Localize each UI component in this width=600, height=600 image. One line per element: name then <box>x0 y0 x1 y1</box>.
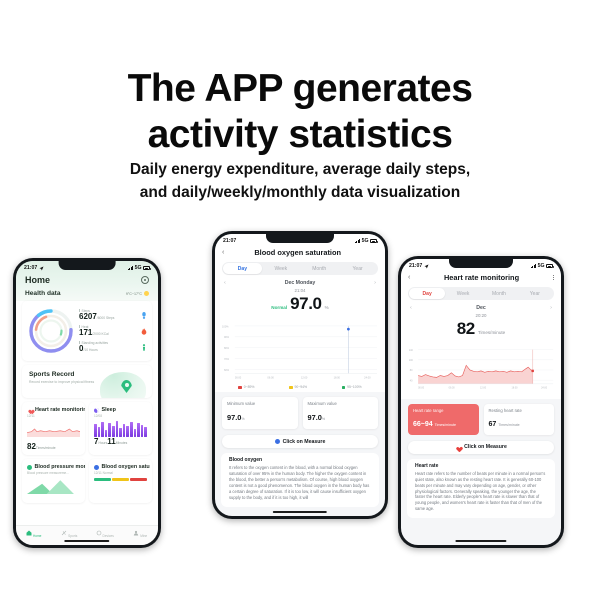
stat-heat: Heat 171/2000 KCal <box>79 325 147 337</box>
standing-value: 0/10 Hours <box>79 345 141 353</box>
reading-time: 21:04 <box>215 288 385 293</box>
tab-day[interactable]: Day <box>223 263 261 274</box>
chart-legend: 0~89% 90~94% 95~100% <box>215 381 385 392</box>
phone-notch <box>449 259 513 268</box>
date-selector[interactable]: ‹ Dec › <box>401 305 561 312</box>
reading-value: 82 <box>457 319 475 339</box>
oxygen-drop-icon <box>275 439 280 444</box>
date-selector[interactable]: ‹ Dec Monday › <box>215 280 385 287</box>
svg-text:12:00: 12:00 <box>480 387 487 390</box>
article-title: Heart rate <box>415 463 547 469</box>
bp-title: Blood pressure mor <box>35 464 86 470</box>
gear-icon[interactable] <box>141 276 149 284</box>
prev-date-icon[interactable]: ‹ <box>410 305 412 311</box>
current-reading: 21:04 Normal 97.0 % <box>215 287 385 318</box>
sleep-bar-chart <box>94 421 147 437</box>
home-icon <box>26 530 32 536</box>
subtitle-line-1: Daily energy expenditure, average daily … <box>0 158 600 181</box>
minimum-label: Minimum value <box>227 401 293 407</box>
signal-icon <box>128 266 133 270</box>
kebab-menu-icon[interactable] <box>553 275 554 281</box>
tab-year[interactable]: Year <box>517 288 553 299</box>
chevron-left-icon[interactable]: ‹ <box>408 274 410 281</box>
signal-icon <box>531 264 536 268</box>
next-date-icon[interactable]: › <box>550 305 552 311</box>
svg-text:100: 100 <box>409 359 414 362</box>
heart-rate-article: Heart rate Heart rate refers to the numb… <box>407 463 555 518</box>
battery-icon <box>546 264 553 268</box>
card-sleep[interactable]: Sleep 12/08 7Hours11Minutes <box>89 402 152 455</box>
bp-icon <box>27 465 32 470</box>
network-label: 5G <box>362 238 369 244</box>
svg-text:90%: 90% <box>224 335 230 339</box>
nav-item-mine[interactable]: Mine <box>123 530 159 538</box>
resting-heart-rate-card: Resting heart rate 67 Times/minute <box>484 404 555 435</box>
bp-subtitle: Blood pressure measureme... <box>27 471 80 475</box>
footprint-icon <box>141 312 147 321</box>
measure-button[interactable]: Click on Measure <box>222 435 378 448</box>
nav-item-devices[interactable]: Devices <box>87 530 123 538</box>
tab-month[interactable]: Month <box>300 263 338 274</box>
sleep-date: 12/08 <box>94 414 147 418</box>
minimum-value: 97.0% <box>227 413 245 422</box>
phone-notch <box>59 261 116 270</box>
svg-text:24:00: 24:00 <box>364 375 371 379</box>
svg-text:18:00: 18:00 <box>512 387 519 390</box>
battery-icon <box>370 239 377 243</box>
range-value: 66~94 Times/minute <box>413 421 456 428</box>
oxygen-scatter-svg: 100%90% 80%70% 60% 00:0006:00 12:0018:00… <box>221 320 379 381</box>
svg-text:40: 40 <box>410 380 413 383</box>
steps-value: 6207/6000 Steps <box>79 313 141 321</box>
subtitle-line-2: and daily/weekly/monthly data visualizat… <box>0 181 600 204</box>
svg-text:12:00: 12:00 <box>301 375 308 379</box>
sports-record-card[interactable]: Sports Record Record exercise to improve… <box>22 365 152 398</box>
current-date: Dec <box>476 305 486 311</box>
legend-item-mid: 90~94% <box>289 385 307 389</box>
flame-icon <box>141 328 147 337</box>
heart-rate-date: 12/11 <box>27 414 80 418</box>
location-arrow-icon <box>424 264 429 269</box>
status-time: 21:07 <box>223 238 236 244</box>
heart-icon <box>455 445 461 450</box>
current-date: Dec Monday <box>285 280 316 286</box>
heart-rate-range-card: Heart rate range 66~94 Times/minute <box>408 404 479 435</box>
page-title: The APP generates activity statistics <box>0 66 600 157</box>
maximum-value-card: Maximum value 97.0% <box>303 397 379 429</box>
reading-time: 20:20 <box>401 313 561 318</box>
resting-label: Resting heart rate <box>489 408 550 413</box>
reading-unit: Times/minute <box>478 330 505 335</box>
phone-notch <box>266 234 334 243</box>
card-blood-pressure[interactable]: Blood pressure mor Blood pressure measur… <box>22 459 85 503</box>
card-heart-rate[interactable]: Heart rate monitoring 12/11 82Times/minu… <box>22 402 85 455</box>
heart-rate-value: 82Times/minute <box>27 442 80 451</box>
svg-text:06:00: 06:00 <box>267 375 274 379</box>
tab-year[interactable]: Year <box>338 263 376 274</box>
home-indicator <box>455 540 506 542</box>
location-arrow-icon <box>39 266 44 271</box>
headline-line-2: activity statistics <box>0 112 600 158</box>
measure-button[interactable]: Click on Measure <box>408 441 554 454</box>
tab-day[interactable]: Day <box>409 288 445 299</box>
tab-month[interactable]: Month <box>481 288 517 299</box>
oxygen-icon <box>94 465 99 470</box>
svg-text:60%: 60% <box>224 368 230 372</box>
range-label: Heart rate range <box>413 408 474 413</box>
oxygen-title: Blood oxygen satu <box>102 464 150 470</box>
bp-mountain-graphic <box>27 478 80 494</box>
home-indicator <box>64 540 109 542</box>
network-label: 5G <box>538 263 545 269</box>
svg-text:18:00: 18:00 <box>334 375 341 379</box>
heat-value: 171/2000 KCal <box>79 329 141 337</box>
period-tabs[interactable]: Day Week Month Year <box>222 262 378 275</box>
svg-text:24:00: 24:00 <box>541 387 548 390</box>
screen-title: Blood oxygen saturation <box>228 248 367 257</box>
sleep-title: Sleep <box>102 407 116 413</box>
svg-text:140: 140 <box>409 349 414 352</box>
devices-icon <box>96 530 102 536</box>
nav-item-sports[interactable]: Sports <box>52 530 88 538</box>
period-tabs[interactable]: Day Week Month Year <box>408 287 554 300</box>
weather-info: 9°C~17°C <box>126 291 149 296</box>
sports-icon <box>61 530 67 536</box>
maximum-value: 97.0% <box>308 413 326 422</box>
heart-rate-area-svg: 140100 8040 00:0006:00 12:0018:00 24:00 <box>407 345 555 399</box>
activity-rings-chart <box>27 307 75 355</box>
signal-icon <box>355 239 360 243</box>
heart-rate-sparkline <box>27 421 80 437</box>
health-data-title: Health data <box>25 290 61 297</box>
heart-rate-title: Heart rate monitoring <box>35 407 85 413</box>
next-date-icon[interactable]: › <box>374 280 376 286</box>
svg-text:00:00: 00:00 <box>235 375 242 379</box>
chevron-left-icon[interactable]: ‹ <box>222 249 224 256</box>
nav-item-home[interactable]: Home <box>16 530 52 538</box>
resting-value: 67 Times/minute <box>489 421 520 428</box>
oxygen-date: 12/11 Normal <box>94 471 147 475</box>
blood-oxygen-article: Blood oxygen It refers to the oxygen con… <box>221 457 379 507</box>
legend-item-low: 0~89% <box>238 385 254 389</box>
page-subtitle: Daily energy expenditure, average daily … <box>0 158 600 205</box>
current-reading: 20:20 82 Times/minute <box>401 312 561 343</box>
network-label: 5G <box>135 265 142 271</box>
sleep-value: 7Hours11Minutes <box>94 437 147 446</box>
stat-steps: Steps 6207/6000 Steps <box>79 309 147 321</box>
legend-item-high: 95~100% <box>342 385 362 389</box>
blood-oxygen-chart[interactable]: 100%90% 80%70% 60% 00:0006:00 12:0018:00… <box>215 318 385 381</box>
phone-mockup-blood-oxygen: 21:07 5G ‹ Blood oxygen saturation Day W… <box>212 231 388 519</box>
heart-rate-chart[interactable]: 140100 8040 00:0006:00 12:0018:00 24:00 <box>401 343 561 399</box>
svg-text:80%: 80% <box>224 346 230 350</box>
svg-text:70%: 70% <box>224 357 230 361</box>
home-indicator <box>273 511 327 513</box>
svg-text:100%: 100% <box>222 324 229 328</box>
article-body: It refers to the oxygen content in the b… <box>229 465 371 501</box>
sun-icon <box>144 291 149 296</box>
article-body: Heart rate refers to the number of beats… <box>415 471 547 512</box>
svg-text:80: 80 <box>410 369 413 372</box>
screen-title: Heart rate monitoring <box>414 273 548 282</box>
reading-status: Normal <box>271 305 287 310</box>
status-time: 21:07 <box>24 265 37 271</box>
stand-icon <box>141 344 147 353</box>
oxygen-range-bars <box>94 478 147 481</box>
prev-date-icon[interactable]: ‹ <box>224 280 226 286</box>
article-title: Blood oxygen <box>229 457 371 463</box>
reading-value: 97.0 <box>290 294 322 314</box>
home-title: Home <box>25 275 50 285</box>
tab-week[interactable]: Week <box>445 288 481 299</box>
moon-icon <box>94 408 99 413</box>
maximum-label: Maximum value <box>308 401 374 407</box>
svg-text:00:00: 00:00 <box>418 387 425 390</box>
battery-icon <box>143 266 150 270</box>
card-blood-oxygen[interactable]: Blood oxygen satu 12/11 Normal <box>89 459 152 503</box>
minimum-value-card: Minimum value 97.0% <box>222 397 298 429</box>
bottom-navigation[interactable]: Home Sports Devices Mine <box>16 525 158 545</box>
phone-mockup-home: 21:07 5G Home Health data 9°C~17°C <box>13 258 161 548</box>
activity-rings-card[interactable]: Steps 6207/6000 Steps Heat 171/2000 KCal <box>22 301 152 361</box>
stat-standing: Standing activities 0/10 Hours <box>79 341 147 353</box>
status-time: 21:07 <box>409 263 422 269</box>
reading-unit: % <box>325 305 329 310</box>
headline-line-1: The APP generates <box>0 66 600 112</box>
heart-icon <box>27 408 33 413</box>
tab-week[interactable]: Week <box>262 263 300 274</box>
phone-mockup-heart-rate: 21:07 5G ‹ Heart rate monitoring Day Wee… <box>398 256 564 548</box>
person-icon <box>133 530 139 536</box>
svg-text:06:00: 06:00 <box>449 387 456 390</box>
location-pin-icon <box>121 380 132 393</box>
